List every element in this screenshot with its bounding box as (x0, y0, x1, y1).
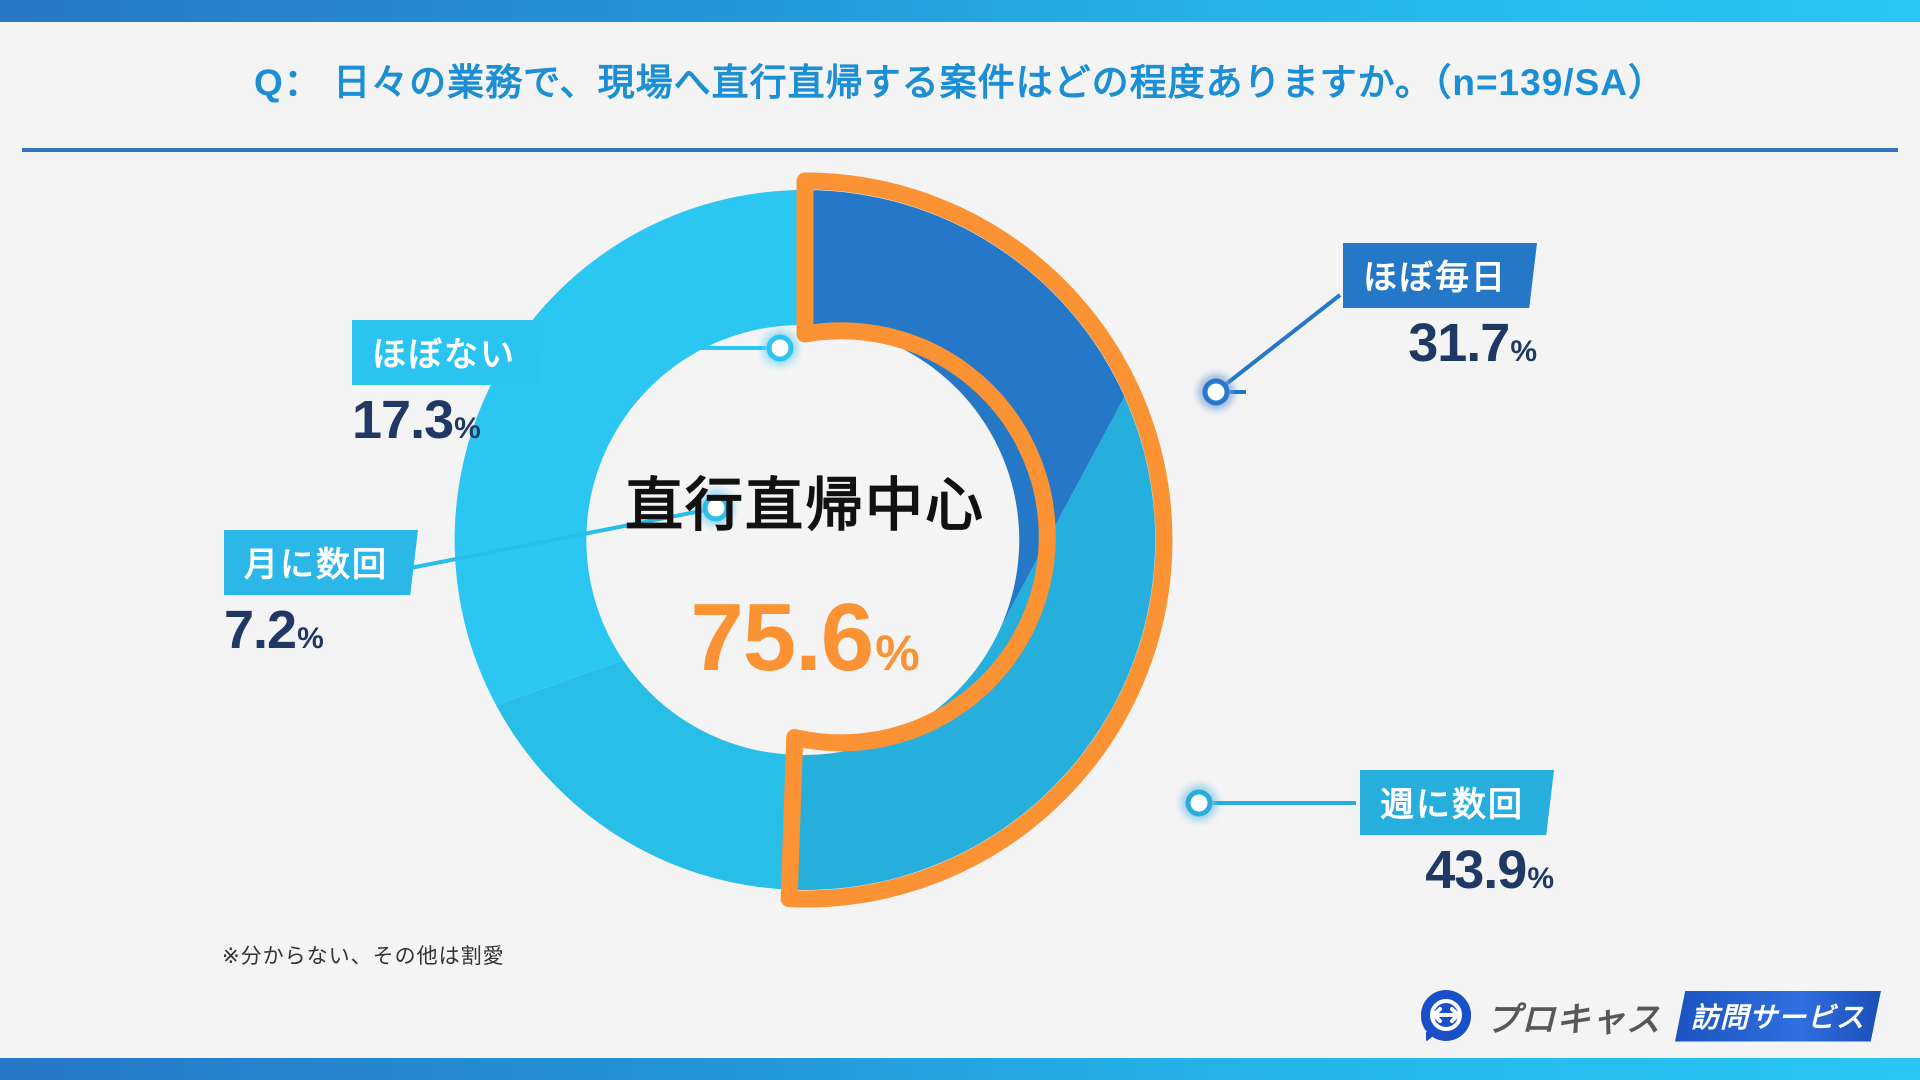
callout-weekly-number: 43.9 (1425, 839, 1526, 901)
callout-monthly: 月に数回 7.2 % (224, 530, 418, 661)
bottom-accent-bar (0, 1058, 1920, 1080)
callout-daily-tag: ほぼ毎日 (1343, 243, 1537, 308)
callout-monthly-number: 7.2 (224, 599, 296, 661)
callout-daily-number: 31.7 (1408, 312, 1509, 374)
callout-monthly-unit: % (297, 622, 324, 656)
callout-none: ほぼない 17.3 % (352, 320, 546, 451)
center-value: 75.6 % (690, 583, 919, 693)
callout-none-number: 17.3 (352, 389, 453, 451)
callout-monthly-value: 7.2 % (224, 599, 418, 661)
procas-s-icon (1420, 990, 1472, 1042)
logo-badge: 訪問サービス (1675, 991, 1881, 1042)
callout-weekly: 週に数回 43.9 % (1360, 770, 1554, 901)
leader-weekly (1188, 792, 1356, 814)
callout-weekly-unit: % (1527, 862, 1554, 896)
callout-none-unit: % (454, 412, 481, 446)
center-label: 直行直帰中心 (625, 458, 985, 542)
callout-weekly-value: 43.9 % (1360, 839, 1554, 901)
donut-slice-monthly (496, 660, 797, 890)
callout-none-value: 17.3 % (352, 389, 546, 451)
logo-brand: プロキャス (1486, 992, 1661, 1041)
callout-weekly-tag: 週に数回 (1360, 770, 1554, 835)
callout-daily-unit: % (1510, 335, 1537, 369)
logo: プロキャス 訪問サービス (1420, 990, 1881, 1042)
callout-daily-value: 31.7 % (1343, 312, 1537, 374)
center-value-unit: % (875, 624, 919, 682)
leader-daily (1205, 295, 1340, 403)
callout-daily: ほぼ毎日 31.7 % (1343, 243, 1537, 374)
callout-monthly-tag: 月に数回 (224, 530, 418, 595)
callout-none-tag: ほぼない (352, 320, 546, 385)
footnote: ※分からない、その他は割愛 (222, 940, 505, 970)
center-value-number: 75.6 (690, 583, 873, 693)
